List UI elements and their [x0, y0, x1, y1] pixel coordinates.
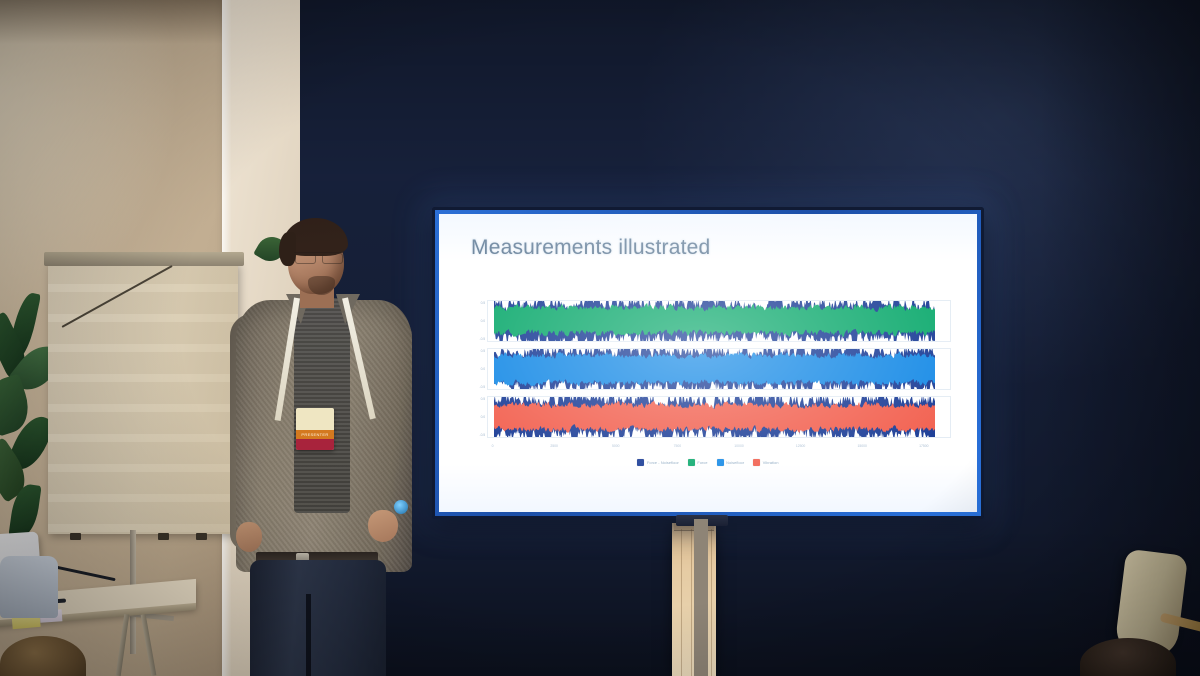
legend-label: Force: [697, 461, 707, 465]
presenter-left-hand: [236, 522, 262, 552]
flipchart-tab: [196, 533, 207, 540]
conference-room-photo: Measurements illustrated 0.5 0.0 -0.5: [0, 0, 1200, 676]
x-tick-label: 2500: [550, 444, 558, 448]
presenter: PRESENTER: [232, 222, 418, 676]
chart: 0.5 0.0 -0.5: [465, 300, 951, 500]
plot-area-subplot-3: [487, 396, 951, 438]
legend-item[interactable]: Vibration: [753, 459, 778, 466]
y-tick-label: 0.5: [481, 397, 485, 401]
legend-item[interactable]: Force: [688, 459, 708, 466]
trouser-seam: [306, 594, 311, 676]
legend-label: Force - Noisefloor: [647, 461, 679, 465]
x-axis: 025005000750010000125001500017500: [487, 444, 951, 454]
plot-area-subplot-1: [487, 300, 951, 342]
x-tick-label: 10000: [734, 444, 743, 448]
legend-label: Noisefloor: [726, 461, 744, 465]
trace-subplot-1: [494, 301, 936, 341]
tv-bezel: Measurements illustrated 0.5 0.0 -0.5: [432, 207, 984, 519]
subplot-force: 0.5 0.0 -0.5: [465, 300, 951, 342]
trace-subplot-3: [494, 397, 936, 437]
y-axis-subplot-2: 0.5 0.0 -0.5: [465, 348, 487, 390]
noise-trace-svg: [494, 349, 936, 389]
subplot-noisefloor: 0.5 0.0 -0.5: [465, 348, 951, 390]
y-tick-label: 0.0: [481, 319, 485, 323]
x-tick-label: 17500: [919, 444, 928, 448]
noise-band-blue: [494, 351, 936, 386]
name-badge: PRESENTER: [296, 408, 334, 450]
chair-back-left: [0, 556, 58, 618]
legend-swatch: [637, 459, 644, 466]
subplot-vibration: 0.5 0.0 -0.5: [465, 396, 951, 438]
y-tick-label: 0.5: [481, 349, 485, 353]
x-tick-label: 12500: [796, 444, 805, 448]
trace-subplot-2: [494, 349, 936, 389]
y-tick-label: 0.0: [481, 367, 485, 371]
tv-screen[interactable]: Measurements illustrated 0.5 0.0 -0.5: [439, 214, 977, 512]
slide-title: Measurements illustrated: [471, 236, 951, 260]
presenter-right-hand: [368, 510, 398, 542]
legend-item[interactable]: Force - Noisefloor: [637, 459, 678, 466]
badge-strip: [296, 439, 334, 450]
y-tick-label: -0.5: [480, 337, 485, 341]
legend-swatch: [753, 459, 760, 466]
plot-area-subplot-2: [487, 348, 951, 390]
slide: Measurements illustrated 0.5 0.0 -0.5: [439, 214, 977, 512]
presenter-shirt: [294, 298, 350, 513]
legend-label: Vibration: [763, 461, 779, 465]
x-tick-label: 15000: [858, 444, 867, 448]
wrist-device: [394, 500, 408, 514]
x-tick-label: 5000: [612, 444, 620, 448]
y-axis-subplot-3: 0.5 0.0 -0.5: [465, 396, 487, 438]
x-tick-label: 0: [492, 444, 494, 448]
y-axis-subplot-1: 0.5 0.0 -0.5: [465, 300, 487, 342]
flipchart-tab: [70, 533, 81, 540]
chart-legend: Force - NoisefloorForceNoisefloorVibrati…: [465, 459, 951, 466]
x-tick-label: 7500: [674, 444, 682, 448]
y-tick-label: 0.0: [481, 415, 485, 419]
tv-stand-column: [694, 519, 708, 676]
presentation-screen[interactable]: Measurements illustrated 0.5 0.0 -0.5: [432, 207, 984, 519]
noise-trace-svg: [494, 397, 936, 437]
legend-swatch: [688, 459, 695, 466]
legend-item[interactable]: Noisefloor: [717, 459, 745, 466]
y-tick-label: -0.5: [480, 433, 485, 437]
noise-trace-svg: [494, 301, 936, 341]
presenter-trousers: [250, 560, 386, 676]
flipchart: [48, 262, 238, 534]
legend-swatch: [717, 459, 724, 466]
y-tick-label: -0.5: [480, 385, 485, 389]
flipchart-clamp: [44, 252, 244, 266]
y-tick-label: 0.5: [481, 301, 485, 305]
flipchart-tab: [158, 533, 169, 540]
glasses-icon: [294, 252, 344, 261]
